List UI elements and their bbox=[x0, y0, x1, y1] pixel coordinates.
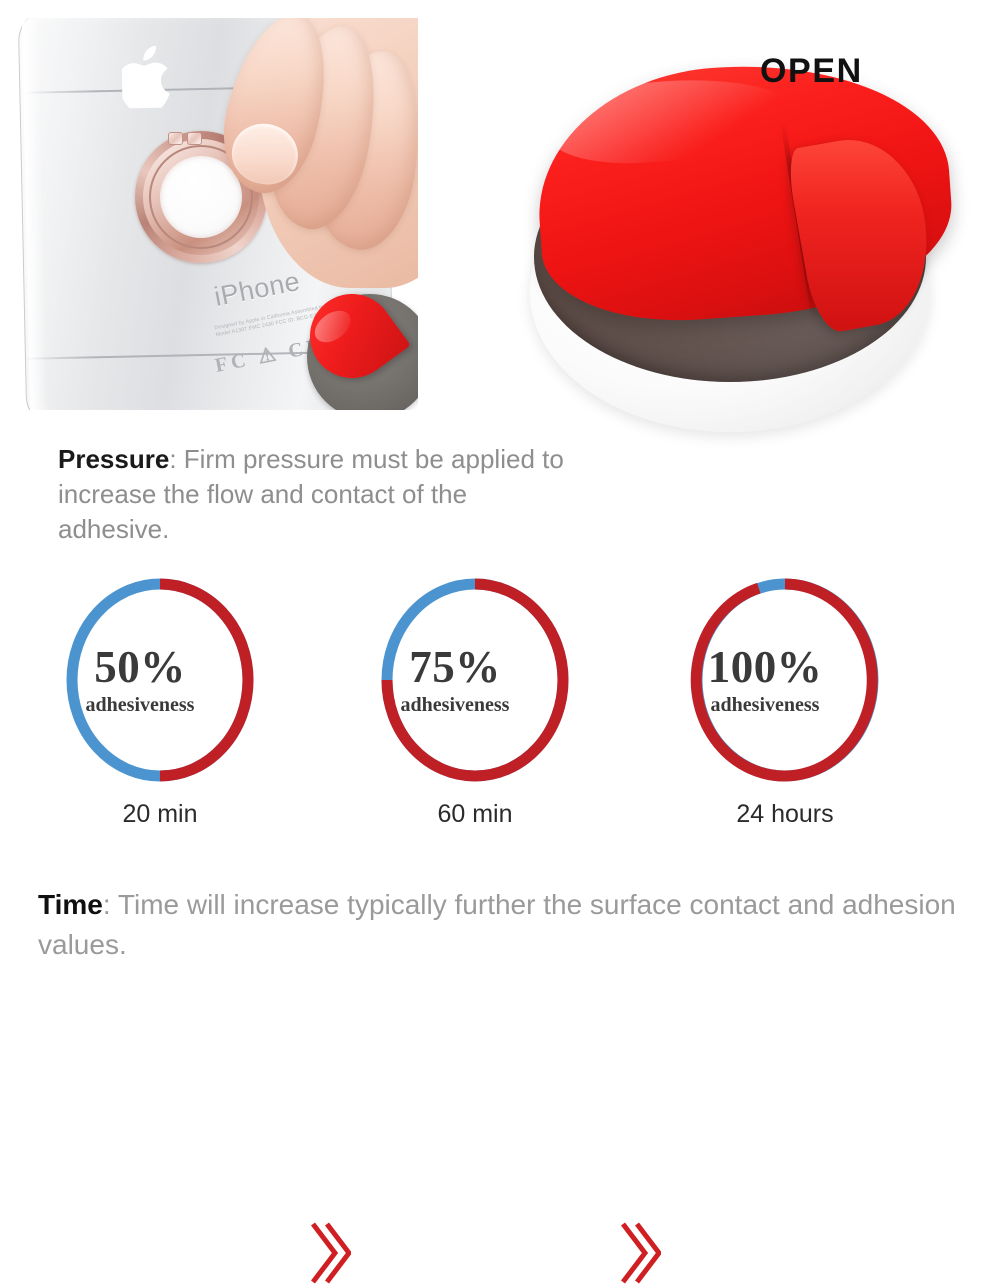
gauge-cell-24hours: 100% adhesiveness 24 hours bbox=[665, 565, 905, 840]
time-lead: Time bbox=[38, 889, 103, 920]
adhesive-pad-photo bbox=[500, 60, 980, 430]
gauge-time-label: 60 min bbox=[355, 800, 595, 829]
chevron-right-arrow-2 bbox=[615, 1220, 661, 1286]
time-body: Time will increase typically further the… bbox=[38, 889, 956, 960]
donut-chart-75 bbox=[375, 575, 575, 785]
chevron-right-arrow-1 bbox=[305, 1220, 351, 1286]
pressure-lead: Pressure bbox=[58, 444, 169, 474]
donut-chart-50 bbox=[60, 575, 260, 785]
gauge-cell-60min: 75% adhesiveness 60 min bbox=[355, 565, 595, 840]
open-label: OPEN bbox=[760, 52, 863, 91]
gauge-time-label: 24 hours bbox=[665, 800, 905, 829]
infographic-canvas: iPhone Designed by Apple in California A… bbox=[0, 0, 1000, 1000]
gauge-cell-20min: 50% adhesiveness 20 min bbox=[40, 565, 280, 840]
apple-logo-icon bbox=[121, 46, 174, 109]
top-image-row: iPhone Designed by Apple in California A… bbox=[0, 0, 1000, 430]
adhesive-pad-inset bbox=[307, 294, 418, 410]
pressure-paragraph: Pressure: Firm pressure must be applied … bbox=[58, 442, 578, 547]
time-separator: : bbox=[103, 889, 118, 920]
phone-application-photo: iPhone Designed by Apple in California A… bbox=[18, 18, 418, 410]
gauge-time-label: 20 min bbox=[40, 800, 280, 829]
ring-center-hole bbox=[160, 156, 242, 238]
ring-gem-icon bbox=[187, 132, 202, 145]
ring-gem-icon bbox=[168, 132, 183, 145]
pressure-separator: : bbox=[169, 444, 183, 474]
donut-chart-100 bbox=[685, 575, 885, 785]
time-paragraph: Time: Time will increase typically furth… bbox=[38, 885, 978, 965]
adhesiveness-gauge-row: 50% adhesiveness 20 min 75% adhesivene bbox=[0, 565, 1000, 840]
